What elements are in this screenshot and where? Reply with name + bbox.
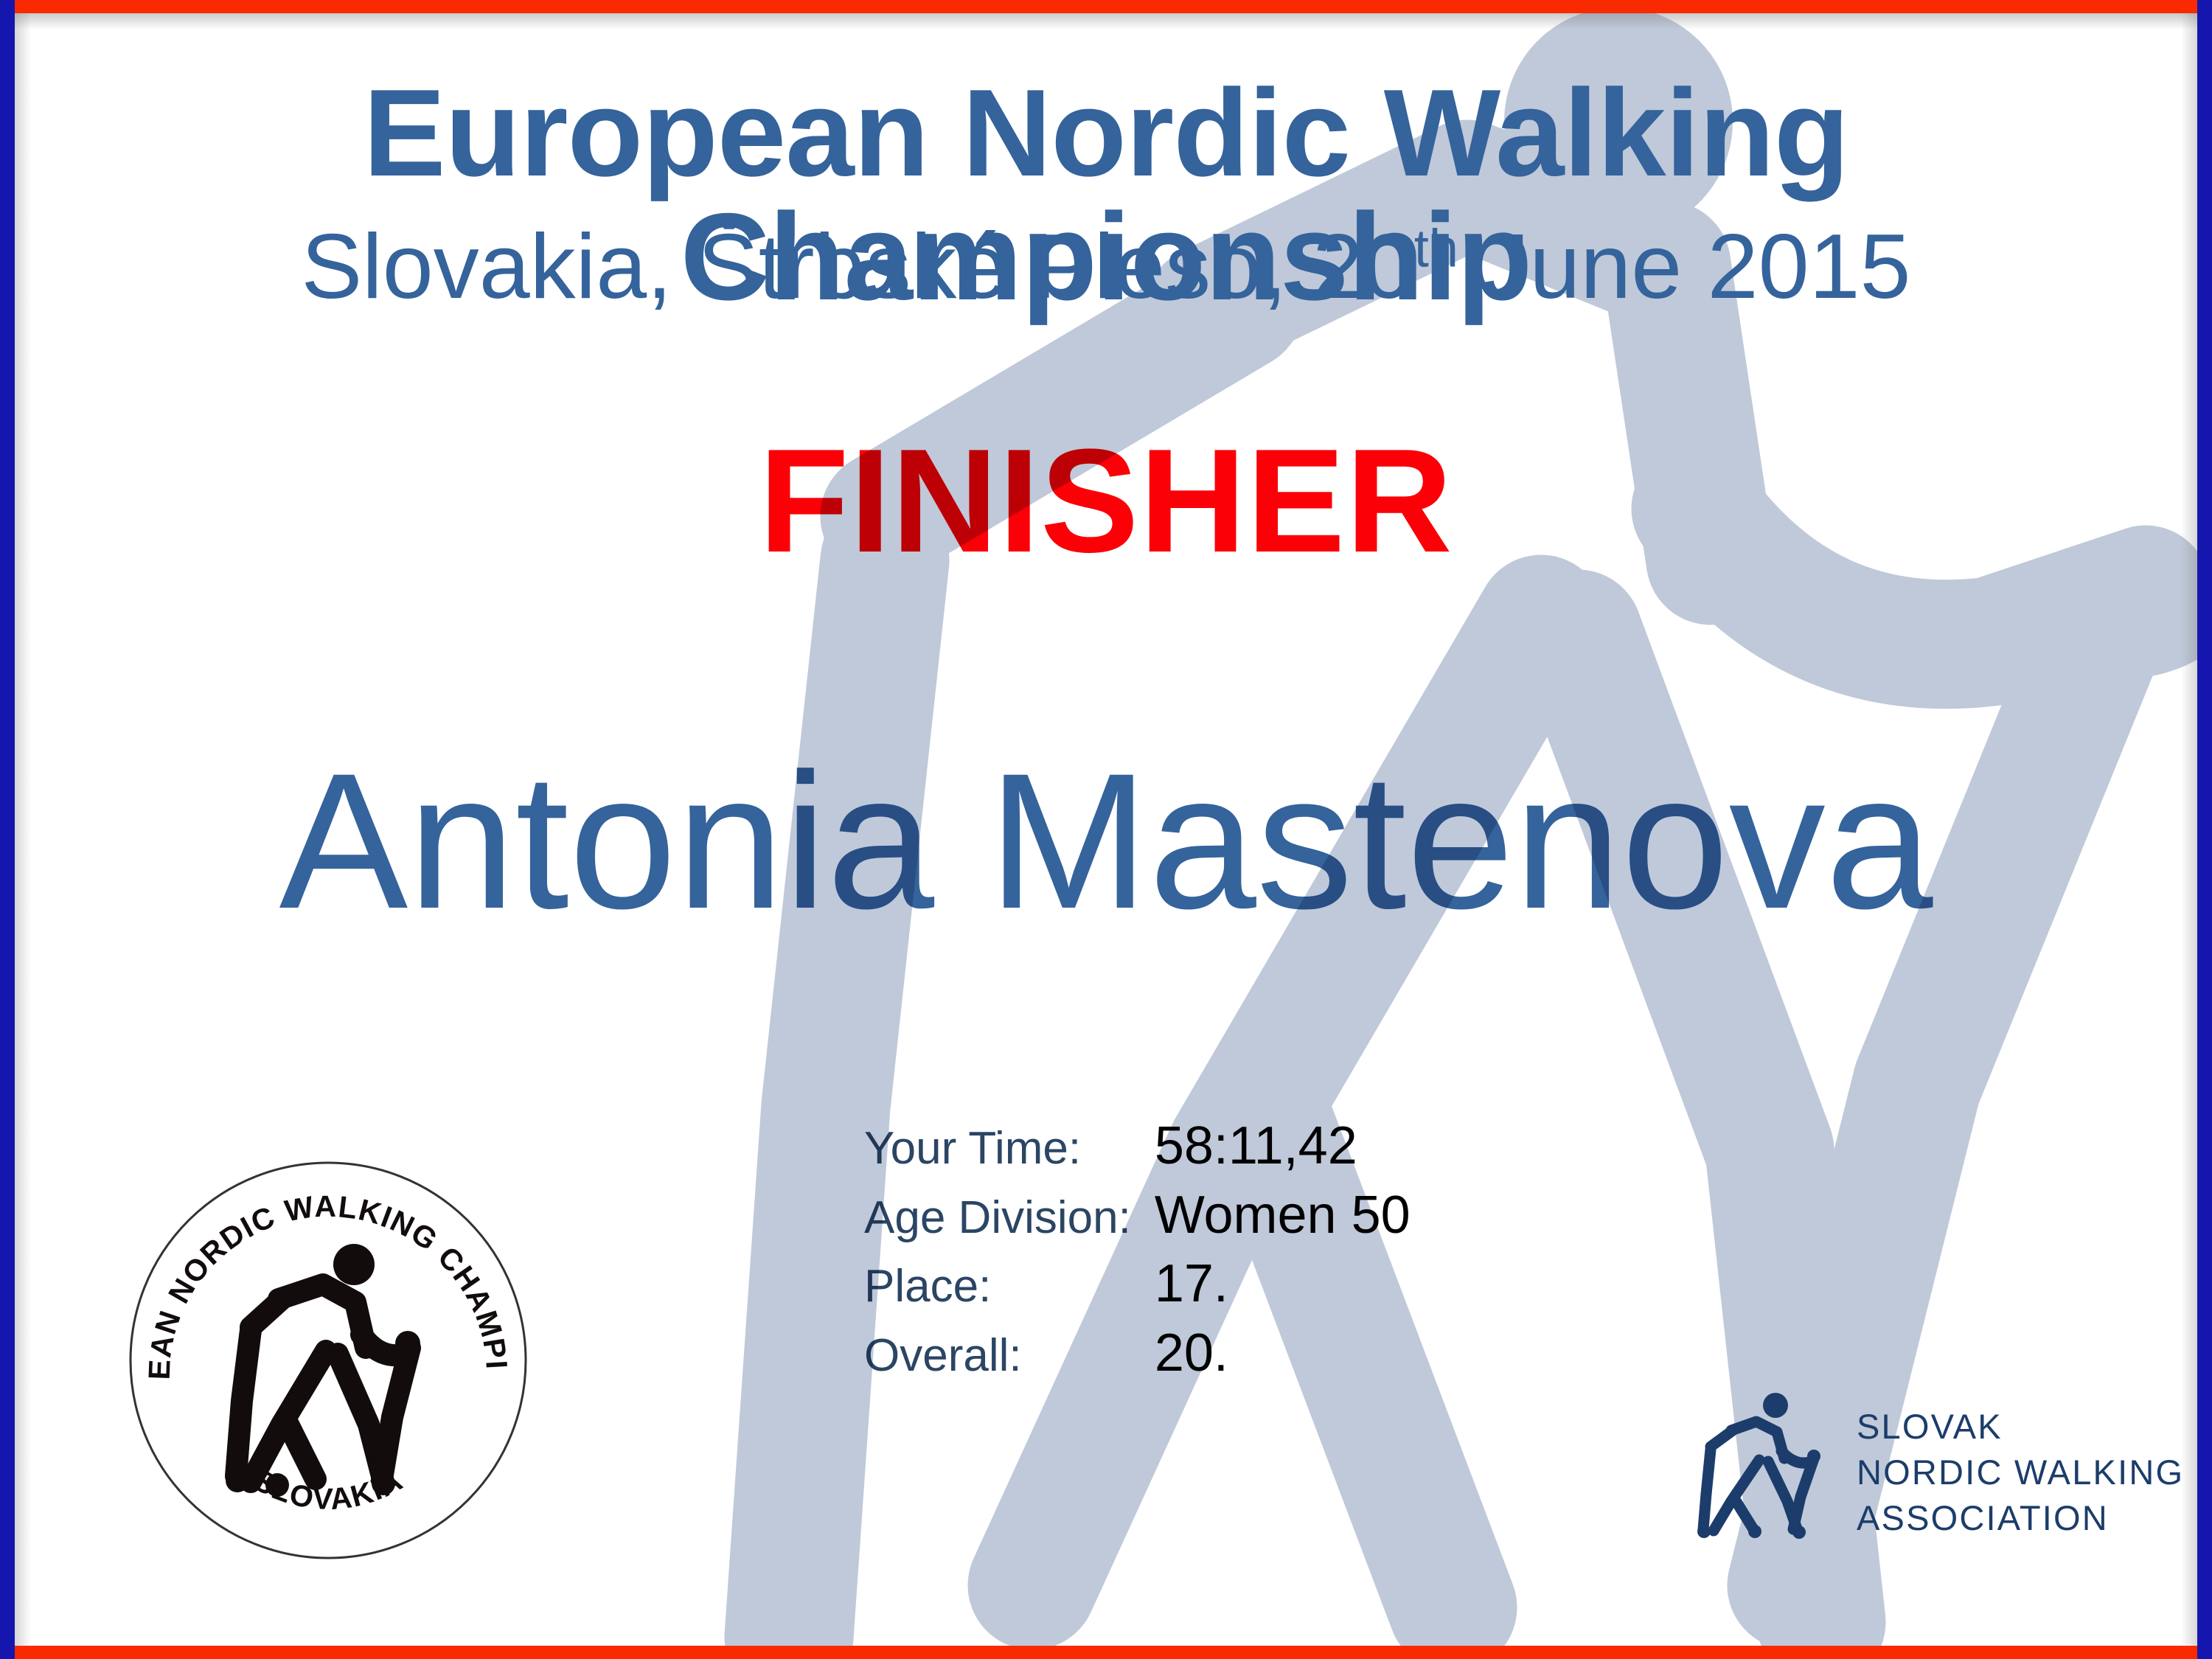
event-subtitle: Slovakia, Štrbské Pleso, 20th June 2015 [0,221,2212,313]
association-line-2: NORDIC WALKING [1857,1450,2184,1495]
association-nordic-walker-icon [1688,1385,1836,1543]
enwc-championship-badge: EUROPEAN NORDIC WALKING CHAMPIONSHIP SLO… [125,1158,531,1563]
result-label-age-division: Age Division: [864,1181,1155,1251]
table-row: Overall: 20. [864,1319,1411,1388]
border-bottom [0,1646,2212,1659]
border-right [2197,0,2212,1659]
association-line-3: ASSOCIATION [1857,1495,2184,1541]
inner-shadow-top [15,13,2197,29]
border-left [0,0,15,1659]
athlete-name: Antonia Mastenova [0,745,2212,938]
result-label-overall: Overall: [864,1319,1155,1388]
border-top [0,0,2212,13]
subtitle-month-year: June 2015 [1458,216,1911,318]
results-table: Your Time: 58:11,42 Age Division: Women … [864,1112,1411,1388]
result-value-overall: 20. [1155,1319,1411,1388]
result-label-your-time: Your Time: [864,1112,1155,1181]
result-label-place: Place: [864,1250,1155,1319]
table-row: Place: 17. [864,1250,1411,1319]
subtitle-ordinal: th [1414,220,1458,279]
association-logo: SLOVAK NORDIC WALKING ASSOCIATION [1688,1379,2146,1556]
association-line-1: SLOVAK [1857,1404,2184,1450]
subtitle-location-date: Slovakia, Štrbské Pleso, 20 [301,216,1413,318]
status-badge: FINISHER [0,428,2212,575]
table-row: Your Time: 58:11,42 [864,1112,1411,1181]
result-value-your-time: 58:11,42 [1155,1112,1411,1181]
results-block: Your Time: 58:11,42 Age Division: Women … [864,1112,1411,1388]
association-name: SLOVAK NORDIC WALKING ASSOCIATION [1857,1404,2184,1541]
result-value-age-division: Women 50 [1155,1181,1411,1251]
table-row: Age Division: Women 50 [864,1181,1411,1251]
certificate-page: European Nordic Walking Championship Slo… [0,0,2212,1659]
result-value-place: 17. [1155,1250,1411,1319]
